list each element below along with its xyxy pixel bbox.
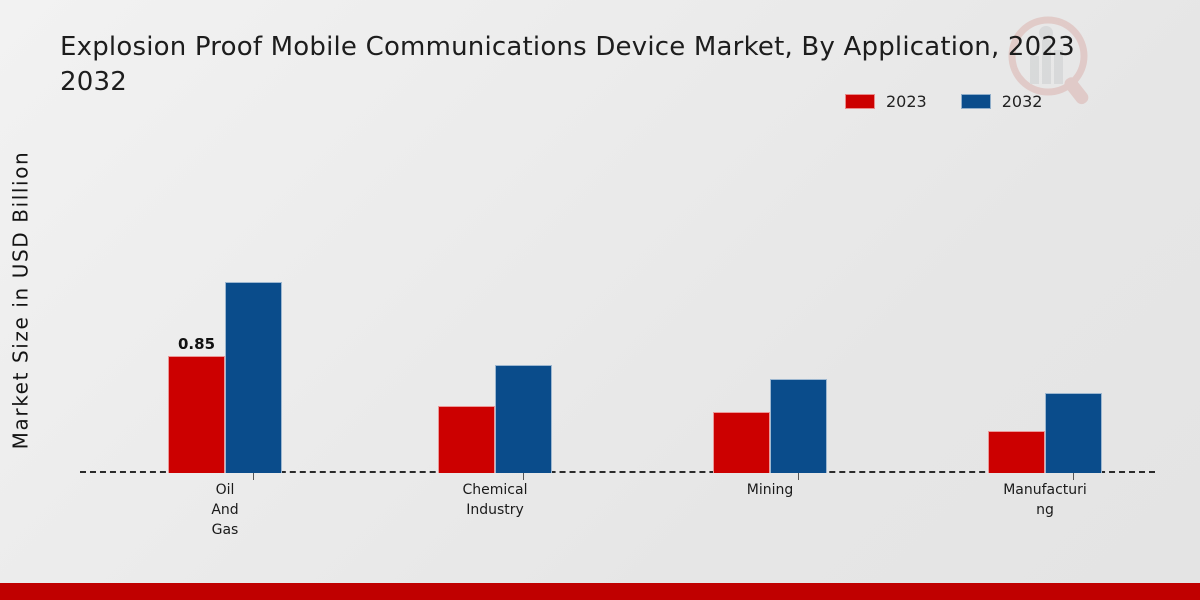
legend-item-2032[interactable]: 2032 [961, 92, 1043, 111]
bar-group-oil-and-gas: 0.85 Oil And Gas [110, 120, 340, 473]
bar-2023-chemical-industry[interactable] [438, 406, 495, 473]
x-axis-tick [253, 473, 254, 480]
y-axis-title: Market Size in USD Billion [2, 0, 38, 600]
x-axis-label-chemical-industry: Chemical Industry [463, 480, 528, 520]
legend-item-2023[interactable]: 2023 [845, 92, 927, 111]
bar-2023-manufacturing[interactable] [988, 431, 1045, 473]
x-axis-tick [1073, 473, 1074, 480]
legend-swatch-blue-icon [961, 94, 991, 109]
chart-title-line-1: Explosion Proof Mobile Communications De… [60, 30, 1180, 65]
chart-legend: 2023 2032 [845, 92, 1042, 111]
chart-container: Explosion Proof Mobile Communications De… [0, 0, 1200, 600]
x-axis-tick [798, 473, 799, 480]
bar-group-chemical-industry: Chemical Industry [380, 120, 610, 473]
y-axis-title-text: Market Size in USD Billion [8, 151, 32, 450]
legend-label-2032: 2032 [1002, 92, 1043, 111]
bar-2032-oil-and-gas[interactable] [225, 282, 282, 473]
legend-label-2023: 2023 [886, 92, 927, 111]
bar-2032-manufacturing[interactable] [1045, 393, 1102, 473]
x-axis-label-manufacturing: Manufacturi ng [1003, 480, 1087, 520]
x-axis-tick [523, 473, 524, 480]
x-axis-label-mining: Mining [747, 480, 794, 500]
bar-value-label: 0.85 [178, 335, 215, 353]
bar-group-mining: Mining [655, 120, 885, 473]
plot-area: 0.85 Oil And Gas Chemical Industry Minin… [80, 120, 1155, 473]
x-axis-label-oil-and-gas: Oil And Gas [211, 480, 238, 540]
bar-2023-mining[interactable] [713, 412, 770, 473]
legend-swatch-red-icon [845, 94, 875, 109]
bar-group-manufacturing: Manufacturi ng [930, 120, 1160, 473]
bar-2032-mining[interactable] [770, 379, 827, 473]
footer-accent-bar [0, 583, 1200, 600]
bar-2032-chemical-industry[interactable] [495, 365, 552, 473]
chart-title: Explosion Proof Mobile Communications De… [60, 30, 1180, 100]
bar-2023-oil-and-gas[interactable]: 0.85 [168, 356, 225, 473]
